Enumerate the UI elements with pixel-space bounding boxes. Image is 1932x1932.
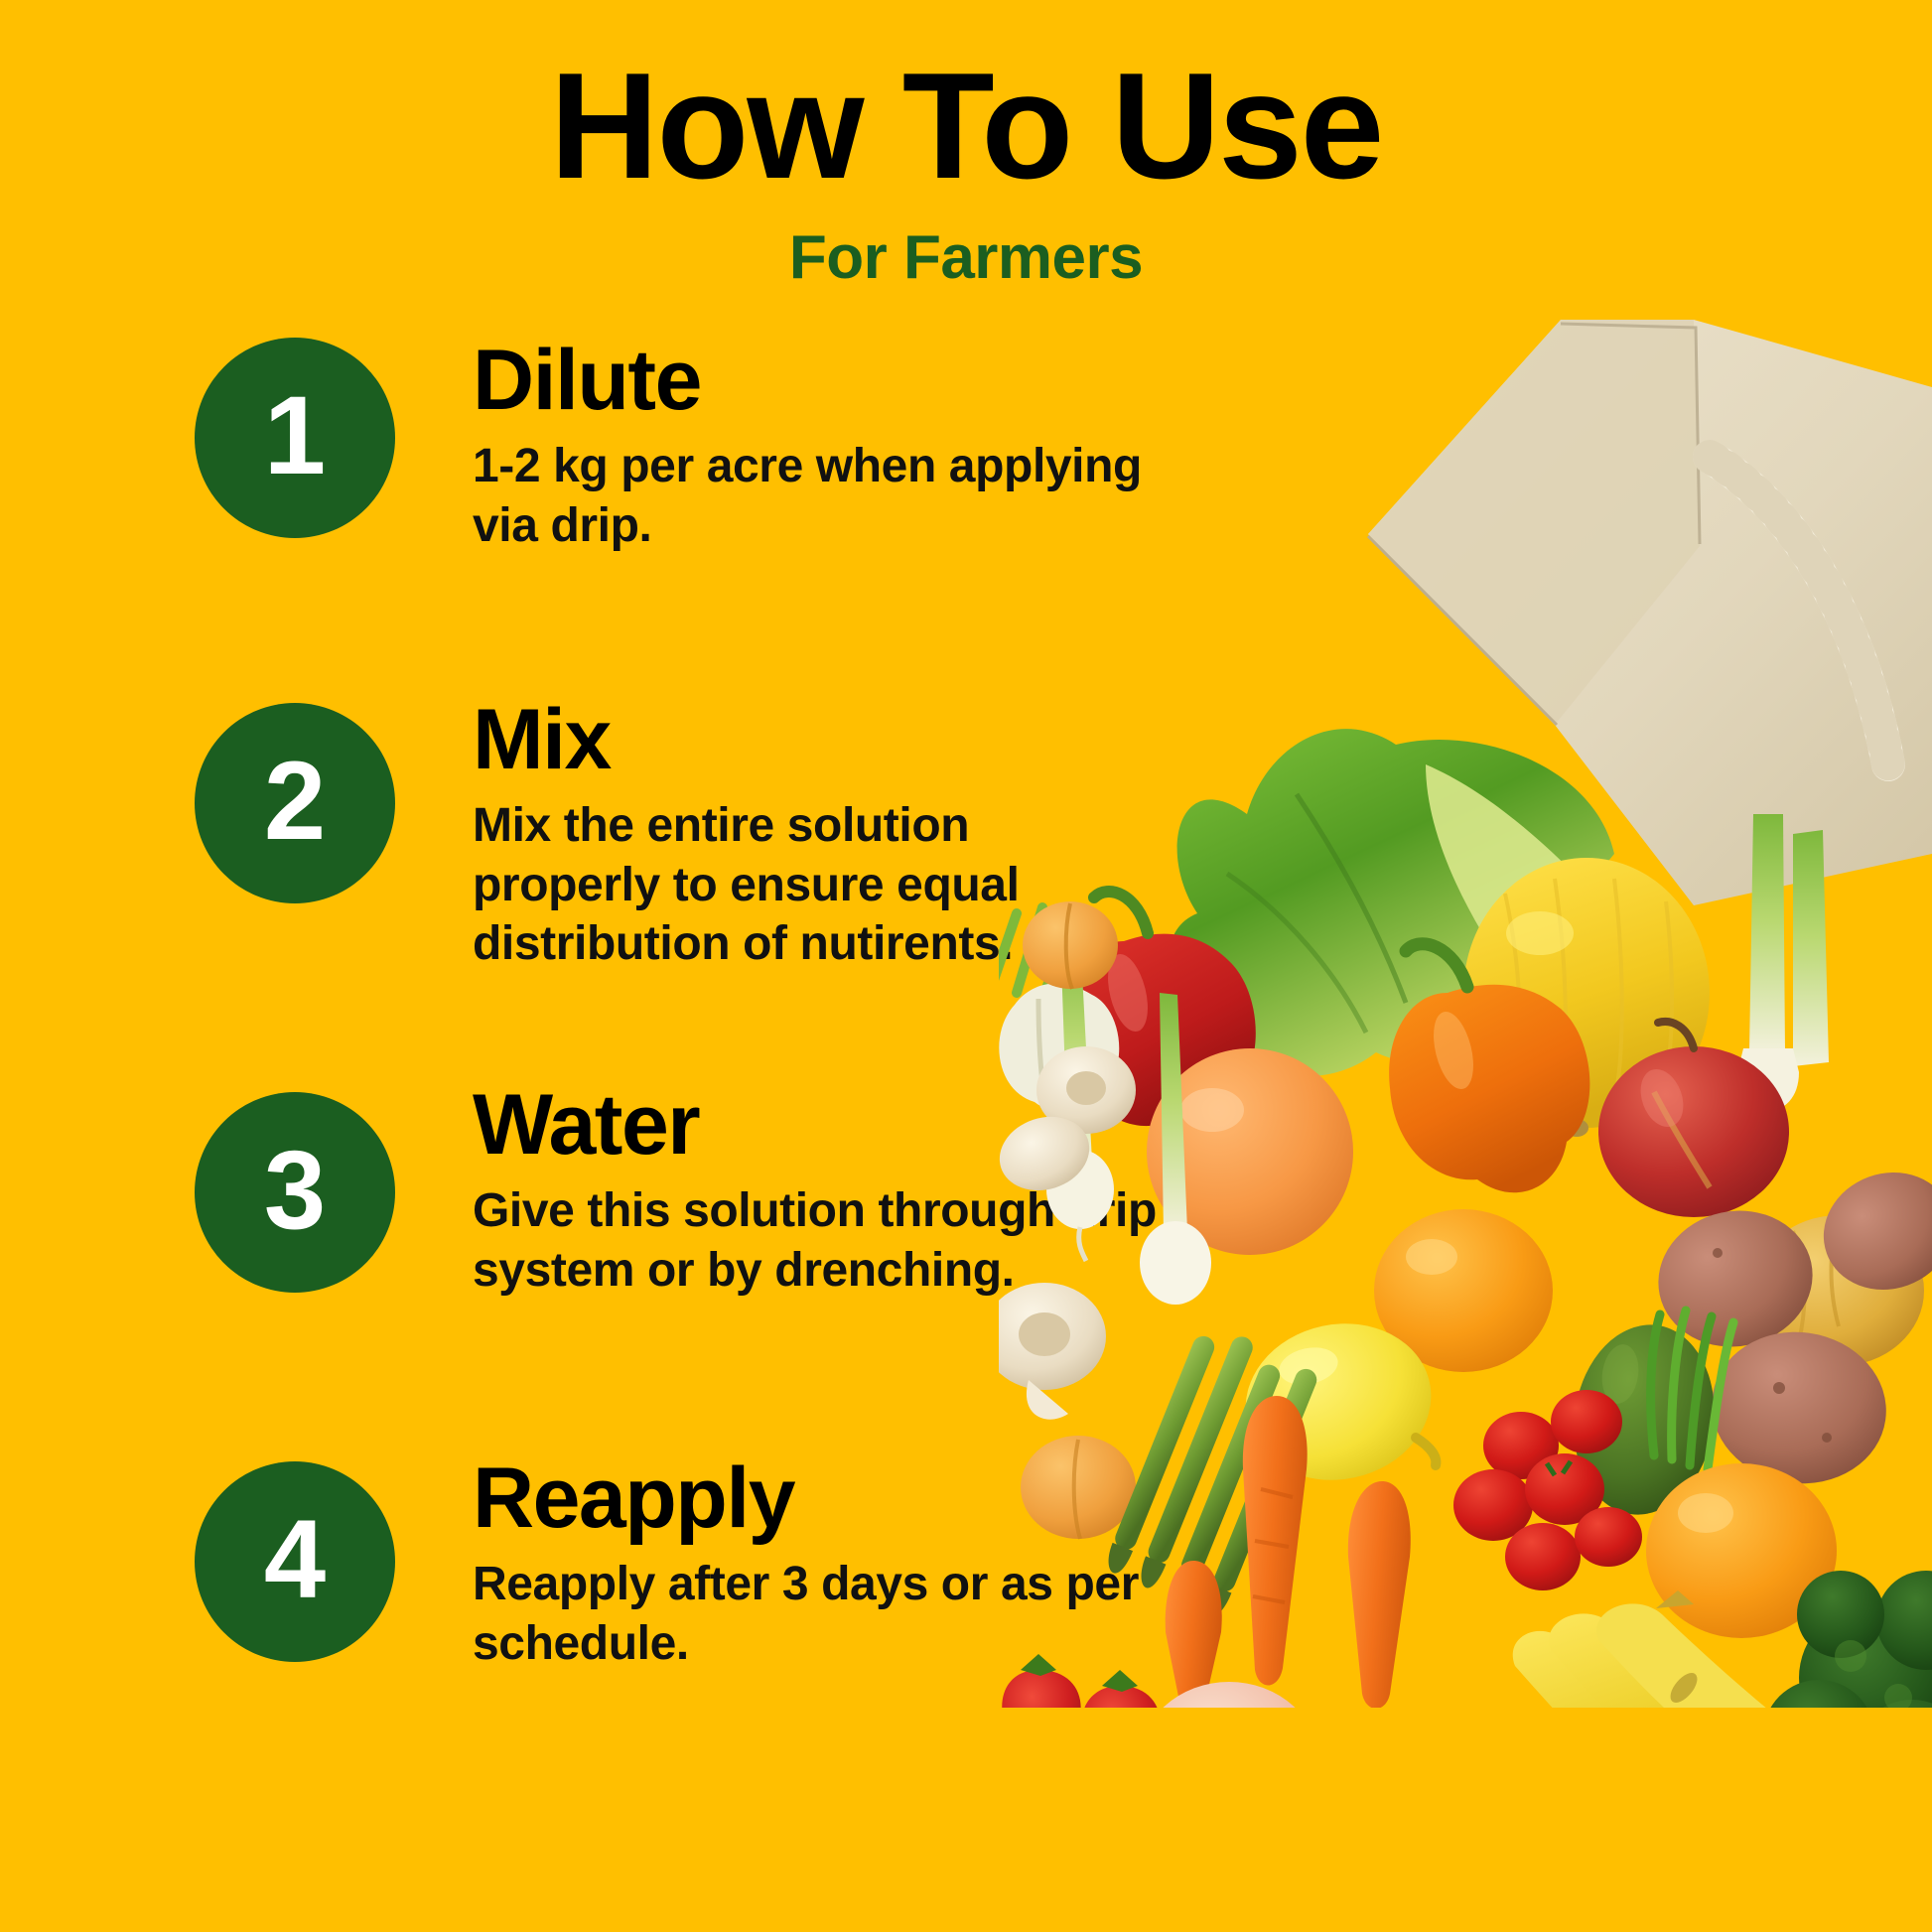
page-title: How To Use: [0, 48, 1932, 207]
step-description-2: Mix the entire solution properly to ensu…: [473, 796, 1168, 974]
header: How To Use For Farmers: [0, 48, 1932, 293]
poster-canvas: How To Use For Farmers 1 Dilute 1-2 kg p…: [0, 0, 1932, 1932]
step-number-badge-2: 2: [195, 703, 395, 903]
step-description-3: Give this solution through drip system o…: [473, 1181, 1168, 1300]
orange-icon: [1374, 1209, 1553, 1372]
leek-icon: [1737, 814, 1829, 1111]
red-potato-icon: [1646, 1155, 1932, 1495]
step-description-4: Reapply after 3 days or as per schedule.: [473, 1555, 1168, 1673]
orange-lower-icon: [1646, 1463, 1837, 1638]
step-number-badge-4: 4: [195, 1461, 395, 1662]
step-body-1: Dilute 1-2 kg per acre when applying via…: [473, 338, 1257, 555]
broccoli-icon: [1763, 1571, 1932, 1708]
step-body-2: Mix Mix the entire solution properly to …: [473, 697, 1257, 974]
step-title-4: Reapply: [473, 1455, 1257, 1541]
step-title-2: Mix: [473, 697, 1257, 782]
step-number-badge-1: 1: [195, 338, 395, 538]
step-number-1: 1: [264, 380, 326, 491]
red-apple-icon: [1598, 1022, 1789, 1217]
step-number-badge-3: 3: [195, 1092, 395, 1293]
orange-bell-pepper-icon: [1389, 944, 1589, 1192]
page-subtitle: For Farmers: [0, 222, 1932, 293]
lemon-icon: [1231, 1307, 1446, 1497]
step-body-3: Water Give this solution through drip sy…: [473, 1082, 1257, 1300]
step-number-3: 3: [264, 1135, 326, 1246]
avocado-icon: [1562, 1315, 1725, 1524]
step-title-3: Water: [473, 1082, 1257, 1168]
white-peach-icon: [1138, 1682, 1320, 1708]
step-title-1: Dilute: [473, 338, 1257, 423]
onion-icon: [1753, 1195, 1924, 1366]
cherry-tomato-icon: [1453, 1390, 1642, 1590]
banana-icon: [1513, 1590, 1849, 1708]
yellow-melon-icon: [1463, 858, 1710, 1137]
step-number-4: 4: [264, 1504, 326, 1615]
step-number-2: 2: [264, 746, 326, 857]
chives-icon: [1651, 1311, 1733, 1469]
step-body-4: Reapply Reapply after 3 days or as per s…: [473, 1455, 1257, 1673]
canvas-tote-bag-icon: [1368, 320, 1932, 905]
step-description-1: 1-2 kg per acre when applying via drip.: [473, 437, 1168, 555]
